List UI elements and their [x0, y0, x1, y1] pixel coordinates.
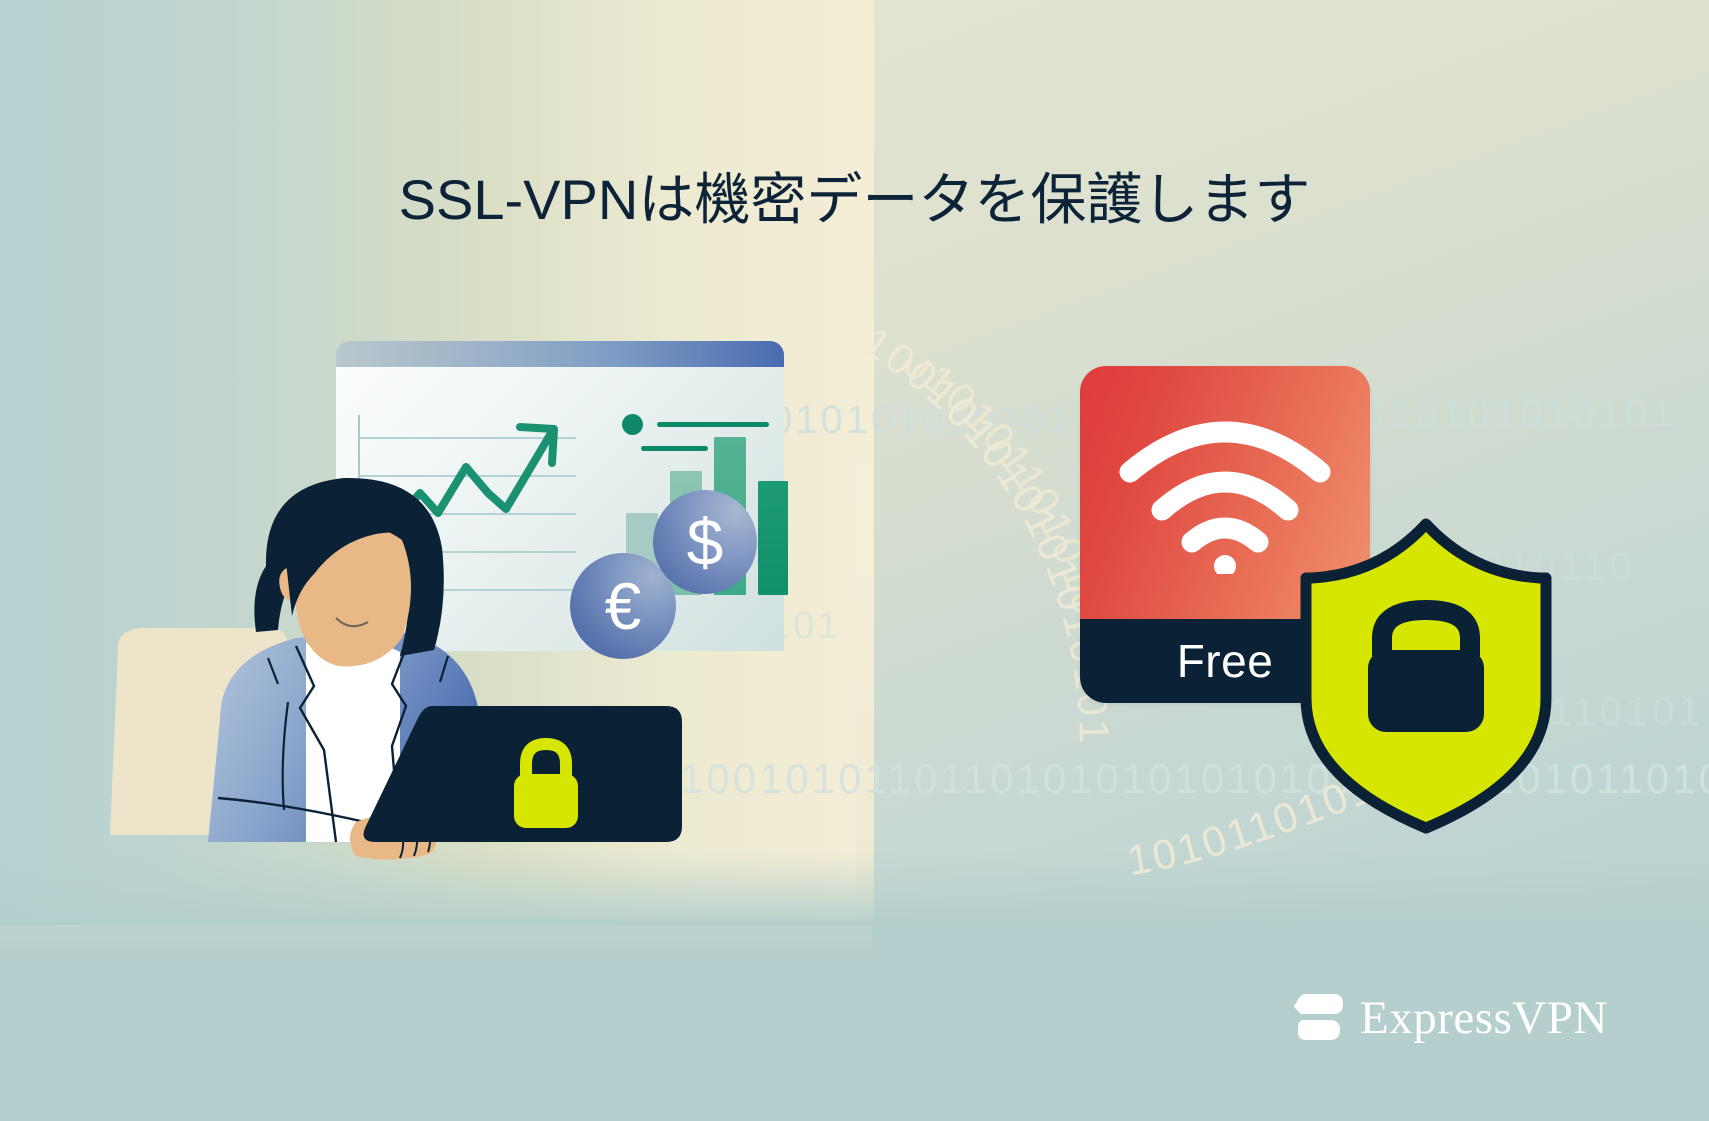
dollar-symbol: $	[687, 504, 724, 580]
expressvpn-wordmark: ExpressVPN	[1360, 995, 1608, 1042]
chart-bar	[758, 481, 788, 595]
dollar-coin: $	[653, 490, 757, 594]
woman-at-laptop-illustration	[100, 470, 720, 940]
screen-title-bar	[336, 341, 784, 367]
security-shield	[1296, 516, 1556, 836]
expressvpn-logo[interactable]: ExpressVPN	[1292, 986, 1612, 1050]
expressvpn-logo-mark	[1292, 990, 1344, 1046]
euro-symbol: €	[605, 568, 642, 644]
chart-legend-dot	[622, 414, 643, 435]
page-title: SSL-VPNは機密データを保護します	[0, 166, 1709, 233]
poster-canvas: 010101010101 010101010101010101 1010110 …	[0, 0, 1709, 1121]
chart-legend-line-1	[657, 422, 769, 427]
